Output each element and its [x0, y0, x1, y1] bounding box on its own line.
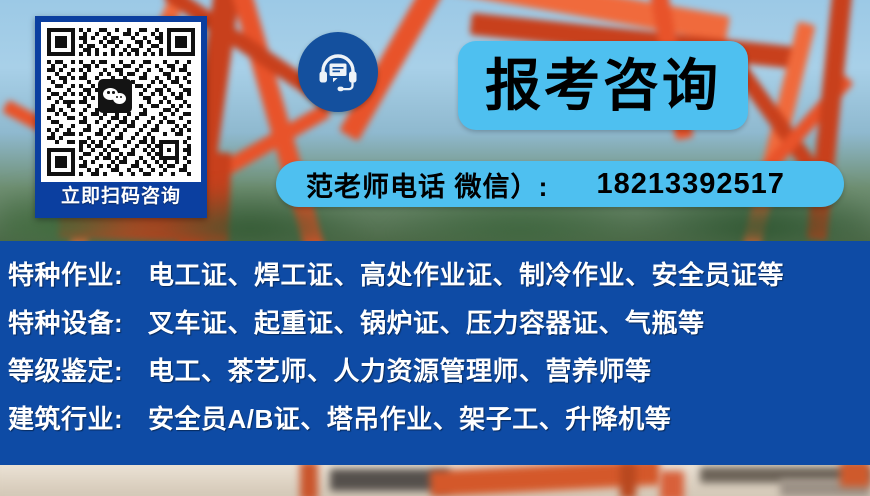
certification-list-band: 特种作业: 电工证、焊工证、高处作业证、制冷作业、安全员证等 特种设备: 叉车证…: [0, 241, 870, 465]
title-pill: 报考咨询: [458, 41, 748, 130]
category-label: 特种作业:: [0, 255, 148, 292]
certification-rows: 特种作业: 电工证、焊工证、高处作业证、制冷作业、安全员证等 特种设备: 叉车证…: [0, 241, 870, 447]
category-label: 建筑行业:: [0, 399, 148, 436]
category-label: 特种设备:: [0, 303, 148, 340]
promo-poster: 立即扫码咨询 报考咨询 范老师电话 微信）: 18213392517 特种作业:…: [0, 0, 870, 496]
title-text: 报考咨询: [485, 58, 721, 114]
contact-phone-number[interactable]: 18213392517: [597, 168, 785, 201]
list-item: 特种设备: 叉车证、起重证、锅炉证、压力容器证、气瓶等: [0, 303, 870, 351]
category-label: 等级鉴定:: [0, 351, 148, 388]
qr-code-card[interactable]: 立即扫码咨询: [35, 16, 207, 218]
list-item: 建筑行业: 安全员A/B证、塔吊作业、架子工、升降机等: [0, 399, 870, 447]
category-values: 安全员A/B证、塔吊作业、架子工、升降机等: [148, 399, 671, 436]
contact-phone-pill[interactable]: 范老师电话 微信）: 18213392517: [276, 161, 844, 207]
category-values: 电工、茶艺师、人力资源管理师、营养师等: [148, 351, 652, 388]
contact-label: 范老师电话 微信）:: [306, 165, 549, 204]
qr-code-image[interactable]: [41, 22, 201, 182]
list-item: 等级鉴定: 电工、茶艺师、人力资源管理师、营养师等: [0, 351, 870, 399]
list-item: 特种作业: 电工证、焊工证、高处作业证、制冷作业、安全员证等: [0, 255, 870, 303]
headset-support-icon[interactable]: [298, 32, 378, 112]
background-photo-bottom: [0, 465, 870, 496]
wechat-icon: [98, 79, 132, 113]
category-values: 电工证、焊工证、高处作业证、制冷作业、安全员证等: [148, 255, 784, 292]
qr-caption: 立即扫码咨询: [61, 187, 181, 206]
category-values: 叉车证、起重证、锅炉证、压力容器证、气瓶等: [148, 303, 705, 340]
